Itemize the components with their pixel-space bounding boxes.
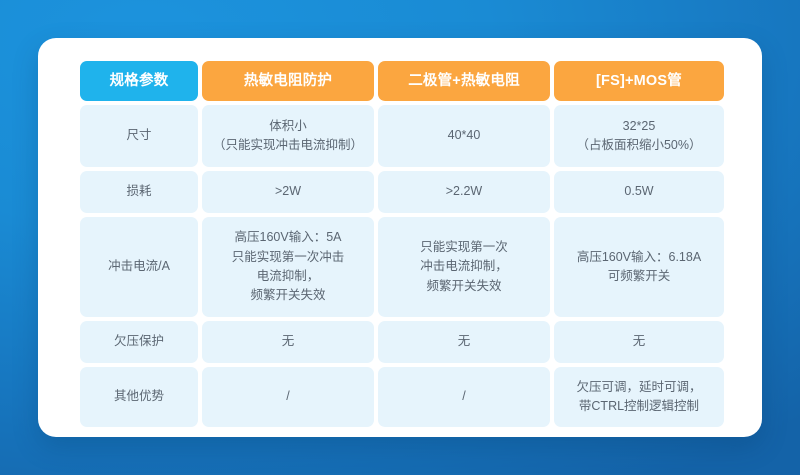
cell-loss-fs-mos: 0.5W [554, 171, 724, 213]
cell-loss-thermistor: >2W [202, 171, 374, 213]
cell-size-thermistor: 体积小 （只能实现冲击电流抑制） [202, 105, 374, 167]
cell-inrush-fs-mos: 高压160V输入：6.18A 可频繁开关 [554, 217, 724, 317]
table-row: 损耗 >2W >2.2W 0.5W [80, 171, 720, 213]
cell-inrush-diode-thermistor: 只能实现第一次 冲击电流抑制， 频繁开关失效 [378, 217, 550, 317]
cell-inrush-thermistor: 高压160V输入：5A 只能实现第一次冲击 电流抑制， 频繁开关失效 [202, 217, 374, 317]
column-header-fs-mos: [FS]+MOS管 [554, 61, 724, 101]
row-label-other-advantages: 其他优势 [80, 367, 198, 427]
cell-uvp-thermistor: 无 [202, 321, 374, 363]
row-label-inrush-current: 冲击电流/A [80, 217, 198, 317]
table-header-row: 规格参数 热敏电阻防护 二极管+热敏电阻 [FS]+MOS管 [80, 61, 720, 101]
cell-loss-diode-thermistor: >2.2W [378, 171, 550, 213]
column-header-spec: 规格参数 [80, 61, 198, 101]
cell-other-diode-thermistor: / [378, 367, 550, 427]
cell-uvp-fs-mos: 无 [554, 321, 724, 363]
cell-size-fs-mos: 32*25 （占板面积缩小50%） [554, 105, 724, 167]
table-row: 欠压保护 无 无 无 [80, 321, 720, 363]
cell-other-thermistor: / [202, 367, 374, 427]
table-row: 尺寸 体积小 （只能实现冲击电流抑制） 40*40 32*25 （占板面积缩小5… [80, 105, 720, 167]
cell-other-fs-mos: 欠压可调，延时可调， 带CTRL控制逻辑控制 [554, 367, 724, 427]
row-label-loss: 损耗 [80, 171, 198, 213]
table-row: 冲击电流/A 高压160V输入：5A 只能实现第一次冲击 电流抑制， 频繁开关失… [80, 217, 720, 317]
column-header-diode-thermistor: 二极管+热敏电阻 [378, 61, 550, 101]
comparison-card: 规格参数 热敏电阻防护 二极管+热敏电阻 [FS]+MOS管 尺寸 体积小 （只… [38, 38, 762, 437]
cell-uvp-diode-thermistor: 无 [378, 321, 550, 363]
table-row: 其他优势 / / 欠压可调，延时可调， 带CTRL控制逻辑控制 [80, 367, 720, 427]
column-header-thermistor: 热敏电阻防护 [202, 61, 374, 101]
row-label-size: 尺寸 [80, 105, 198, 167]
comparison-table: 规格参数 热敏电阻防护 二极管+热敏电阻 [FS]+MOS管 尺寸 体积小 （只… [80, 61, 720, 427]
row-label-undervoltage-protection: 欠压保护 [80, 321, 198, 363]
cell-size-diode-thermistor: 40*40 [378, 105, 550, 167]
